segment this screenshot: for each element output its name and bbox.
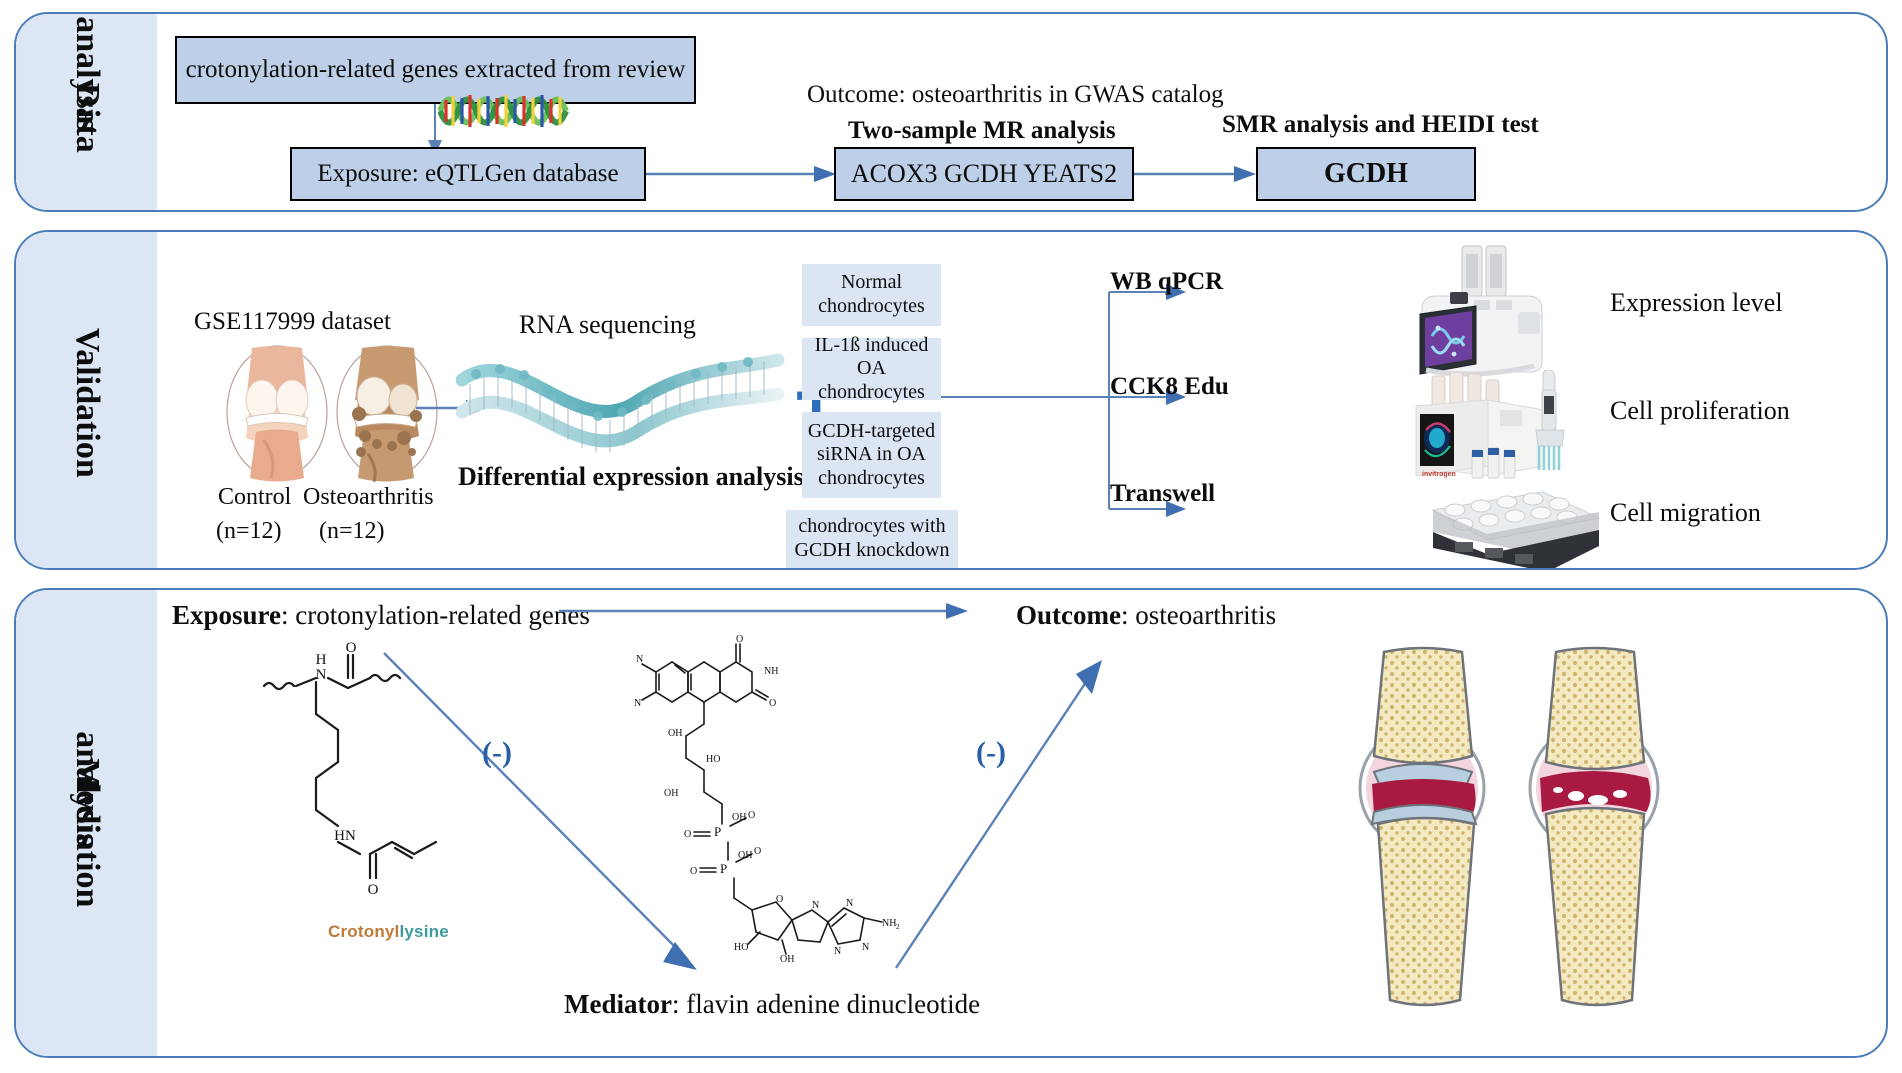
- cell-group-label-4: chondrocytes with GCDH knockdown: [795, 515, 950, 562]
- fad-atom-O6: O: [754, 846, 761, 857]
- outcome-heading: Outcome: osteoarthritis: [1016, 600, 1276, 631]
- crotonyllysine-structure-icon: H N O HN O: [252, 638, 482, 968]
- svg-text:invitrogen: invitrogen: [1422, 471, 1456, 478]
- fad-atom-O4: O: [748, 810, 755, 821]
- fad-atom-O5: O: [690, 866, 697, 877]
- cell-group-label-1: Normal chondrocytes: [818, 271, 925, 318]
- joint-osteoarthritic: [1530, 648, 1658, 1005]
- knee-joint-pair-icon: [1356, 638, 1686, 1038]
- well-plate-icon: [1411, 482, 1601, 570]
- fad-structure-icon: O NH O N N OH HO OH OH P O O OH P O O O …: [606, 610, 936, 1000]
- panel-mediation-label: Mediation analysis: [16, 590, 157, 1056]
- knee-control-label: Control: [218, 484, 291, 511]
- cell-group-label-3: GCDH-targeted siRNA in OA chondrocytes: [808, 420, 935, 491]
- assay-readout-3: Cell migration: [1610, 498, 1761, 528]
- assay-readout-2: Cell proliferation: [1610, 396, 1790, 426]
- differential-expression-label: Differential expression analysis: [458, 462, 804, 492]
- mr-genes-box[interactable]: ACOX3 GCDH YEATS2: [834, 147, 1134, 201]
- assay-method-2: CCK8 Edu: [1110, 373, 1229, 401]
- panel-data-label: Data analysis: [16, 14, 157, 210]
- effect-sign-left: (-): [482, 736, 512, 770]
- fad-atom-N4: N: [846, 898, 853, 909]
- panel-data-label-line2: analysis: [69, 12, 105, 193]
- assay-method-3: Transwell: [1110, 480, 1215, 508]
- qpcr-machine-icon: [1396, 242, 1566, 382]
- crotonyllysine-name-part1: Crotonyl: [328, 922, 399, 941]
- fad-atom-OH5: OH: [780, 954, 794, 965]
- dna-helix-icon: [438, 86, 588, 136]
- fad-atom-HO2: HO: [734, 942, 748, 953]
- assay-readout-1: Expression level: [1610, 288, 1783, 318]
- panel-validation-label-line1: Validation: [69, 253, 105, 553]
- fad-atom-O7: O: [776, 894, 783, 905]
- fad-atom-NH2: NH: [882, 918, 896, 929]
- exposure-heading: Exposure: crotonylation-related genes: [172, 600, 590, 631]
- cell-group-box-3[interactable]: GCDH-targeted siRNA in OA chondrocytes: [802, 412, 941, 498]
- fad-atom-NH2-sub: 2: [896, 923, 900, 931]
- fad-atom-O2: O: [769, 698, 776, 709]
- fad-atom-N5: N: [834, 946, 841, 957]
- rna-double-helix-icon: [456, 350, 786, 460]
- source-genes-box[interactable]: crotonylation-related genes extracted fr…: [175, 36, 696, 104]
- exposure-box[interactable]: Exposure: eQTLGen database: [290, 147, 646, 201]
- panel-validation-label: Validation: [16, 232, 157, 568]
- assay-method-1: WB qPCR: [1110, 268, 1223, 296]
- knee-control-n: (n=12): [216, 518, 282, 545]
- knee-oa-label: Osteoarthritis: [303, 484, 434, 511]
- smr-heidi-caption: SMR analysis and HEIDI test: [1222, 111, 1539, 139]
- fad-atom-N1: N: [636, 654, 643, 665]
- fad-atom-N6: N: [862, 942, 869, 953]
- fad-atom-HO1: HO: [706, 754, 720, 765]
- two-sample-mr-caption: Two-sample MR analysis: [848, 117, 1116, 145]
- outcome-gwas-note: Outcome: osteoarthritis in GWAS catalog: [807, 81, 1224, 109]
- exposure-heading-bold: Exposure: [172, 600, 281, 630]
- atom-label-O2: O: [368, 882, 379, 898]
- effect-sign-right: (-): [976, 736, 1006, 770]
- crotonyllysine-name: Crotonyllysine: [328, 922, 449, 942]
- panel-validation: Validation GSE117999 dataset: [14, 230, 1888, 570]
- gse-dataset-label: GSE117999 dataset: [194, 308, 391, 336]
- fad-atom-P1: P: [714, 824, 721, 839]
- panel-data-analysis: Data analysis crotonylation-related gene…: [14, 12, 1888, 212]
- fad-atom-N3: N: [812, 900, 819, 911]
- fad-atom-OH1: OH: [668, 728, 682, 739]
- atom-label-O1: O: [346, 640, 357, 656]
- fad-atom-OH4: OH: [738, 850, 752, 861]
- knee-osteoarthritis-icon: [332, 344, 442, 484]
- fad-atom-O3: O: [684, 829, 691, 840]
- cell-group-box-2[interactable]: IL-1ß induced OA chondrocytes: [802, 338, 941, 400]
- knee-control-icon: [222, 344, 332, 484]
- fad-atom-OH2: OH: [664, 788, 678, 799]
- cell-group-label-2: IL-1ß induced OA chondrocytes: [802, 334, 941, 405]
- smr-gene-box[interactable]: GCDH: [1256, 147, 1476, 201]
- fad-atom-NH: NH: [764, 666, 778, 677]
- cell-group-box-4[interactable]: chondrocytes with GCDH knockdown: [786, 510, 958, 568]
- cell-group-box-1[interactable]: Normal chondrocytes: [802, 264, 941, 326]
- assay-kit-icon: invitrogen: [1396, 370, 1586, 492]
- outcome-heading-rest: : osteoarthritis: [1121, 600, 1276, 630]
- panel-mediation-analysis: Mediation analysis Exposure: crotonylati…: [14, 588, 1888, 1058]
- panel-mediation-label-line2: analysis: [69, 640, 105, 938]
- outcome-heading-bold: Outcome: [1016, 600, 1121, 630]
- figure-root: Data analysis crotonylation-related gene…: [0, 0, 1902, 1073]
- rna-sequencing-label: RNA sequencing: [519, 310, 696, 340]
- fad-atom-N2: N: [634, 698, 641, 709]
- knee-oa-n: (n=12): [319, 518, 385, 545]
- fad-atom-OH3: OH: [732, 812, 746, 823]
- fad-atom-P2: P: [720, 861, 727, 876]
- exposure-heading-rest: : crotonylation-related genes: [281, 600, 590, 630]
- atom-label-H: H: [316, 652, 327, 668]
- crotonyllysine-name-part2: lysine: [399, 922, 448, 941]
- fad-atom-O1: O: [736, 634, 743, 645]
- atom-label-N1: N: [316, 667, 327, 683]
- joint-healthy: [1360, 648, 1484, 1005]
- atom-label-HN: HN: [334, 828, 356, 844]
